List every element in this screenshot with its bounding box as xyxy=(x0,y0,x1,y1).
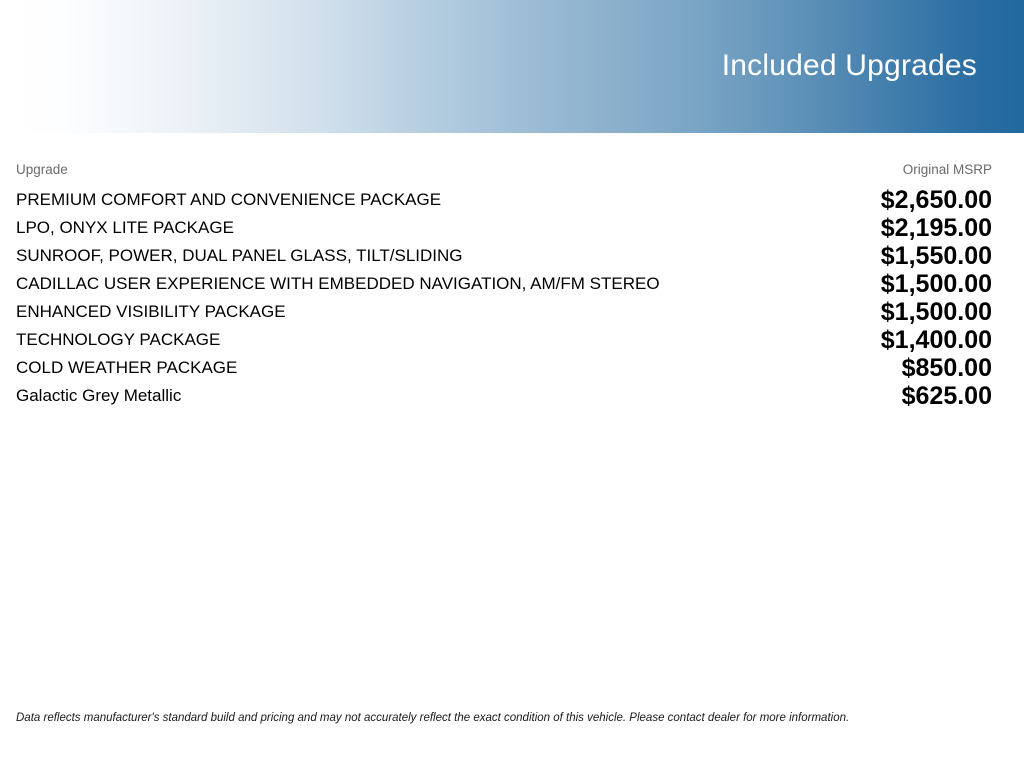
upgrade-price: $1,550.00 xyxy=(719,242,992,270)
upgrade-price: $625.00 xyxy=(719,382,992,410)
included-upgrades-page: Included Upgrades Upgrade Original MSRP … xyxy=(0,0,1024,768)
table-header: Upgrade Original MSRP xyxy=(16,133,992,186)
table-row: SUNROOF, POWER, DUAL PANEL GLASS, TILT/S… xyxy=(16,242,992,270)
upgrade-price: $1,500.00 xyxy=(719,270,992,298)
table-body: PREMIUM COMFORT AND CONVENIENCE PACKAGE … xyxy=(16,186,992,410)
upgrades-table: Upgrade Original MSRP PREMIUM COMFORT AN… xyxy=(16,133,992,410)
table-row: CADILLAC USER EXPERIENCE WITH EMBEDDED N… xyxy=(16,270,992,298)
column-header-original-msrp: Original MSRP xyxy=(719,133,992,186)
table-header-row: Upgrade Original MSRP xyxy=(16,133,992,186)
upgrade-name: TECHNOLOGY PACKAGE xyxy=(16,326,719,354)
table-row: Galactic Grey Metallic $625.00 xyxy=(16,382,992,410)
upgrade-price: $850.00 xyxy=(719,354,992,382)
column-header-upgrade: Upgrade xyxy=(16,133,719,186)
header-banner: Included Upgrades xyxy=(0,0,1024,133)
upgrade-name: CADILLAC USER EXPERIENCE WITH EMBEDDED N… xyxy=(16,270,719,298)
table-row: PREMIUM COMFORT AND CONVENIENCE PACKAGE … xyxy=(16,186,992,214)
upgrade-price: $1,400.00 xyxy=(719,326,992,354)
upgrade-price: $2,650.00 xyxy=(719,186,992,214)
table-row: COLD WEATHER PACKAGE $850.00 xyxy=(16,354,992,382)
upgrade-name: ENHANCED VISIBILITY PACKAGE xyxy=(16,298,719,326)
upgrade-price: $2,195.00 xyxy=(719,214,992,242)
upgrade-name: COLD WEATHER PACKAGE xyxy=(16,354,719,382)
disclaimer-text: Data reflects manufacturer's standard bu… xyxy=(16,701,992,768)
upgrade-name: LPO, ONYX LITE PACKAGE xyxy=(16,214,719,242)
upgrade-price: $1,500.00 xyxy=(719,298,992,326)
table-row: ENHANCED VISIBILITY PACKAGE $1,500.00 xyxy=(16,298,992,326)
content-area: Upgrade Original MSRP PREMIUM COMFORT AN… xyxy=(0,133,1024,768)
table-row: TECHNOLOGY PACKAGE $1,400.00 xyxy=(16,326,992,354)
upgrade-name: Galactic Grey Metallic xyxy=(16,382,719,410)
table-row: LPO, ONYX LITE PACKAGE $2,195.00 xyxy=(16,214,992,242)
upgrade-name: SUNROOF, POWER, DUAL PANEL GLASS, TILT/S… xyxy=(16,242,719,270)
page-title: Included Upgrades xyxy=(722,46,977,86)
upgrade-name: PREMIUM COMFORT AND CONVENIENCE PACKAGE xyxy=(16,186,719,214)
